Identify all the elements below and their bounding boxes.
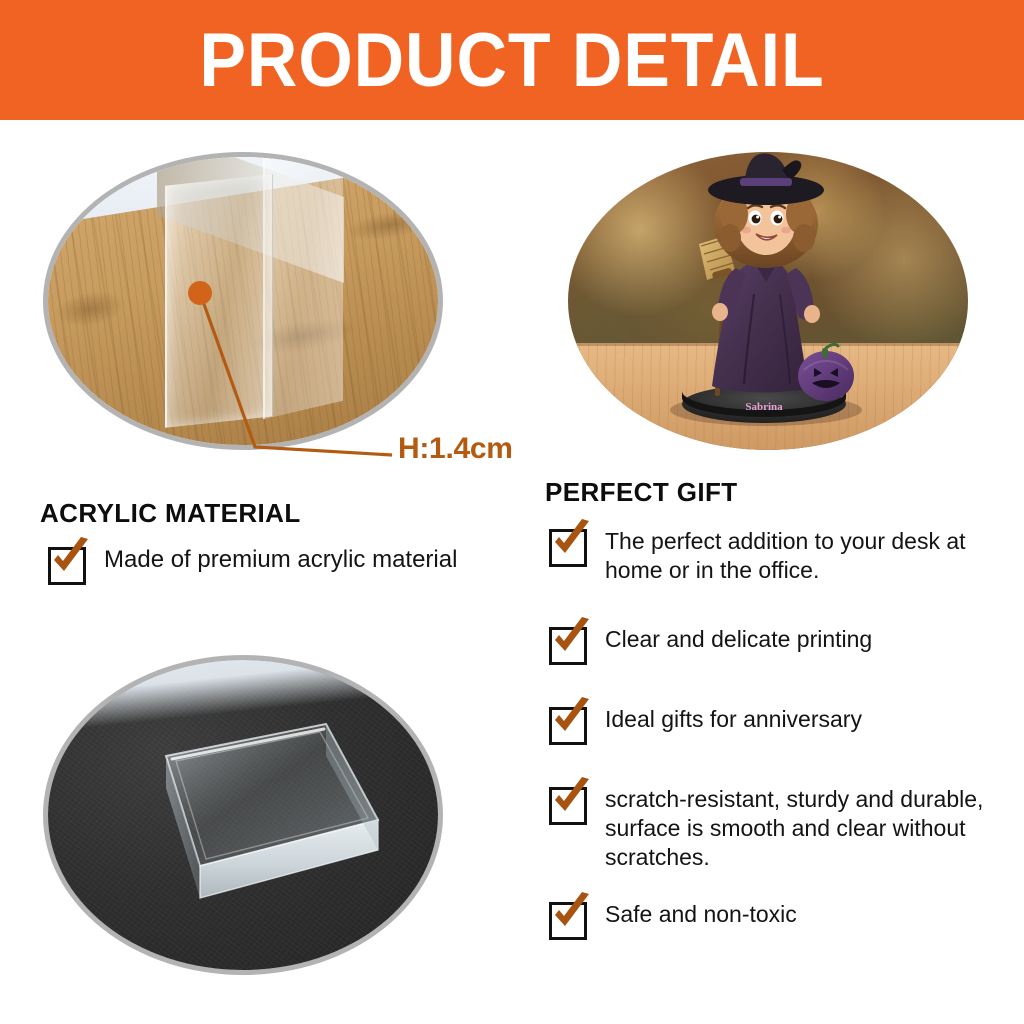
feature-text: scratch-resistant, sturdy and durable, s… [605, 785, 1024, 872]
checkbox-checked-icon [549, 902, 587, 940]
feature-text: The perfect addition to your desk at hom… [605, 527, 1024, 585]
heading-acrylic-material: ACRYLIC MATERIAL [40, 498, 301, 529]
feature-desk-addition: The perfect addition to your desk at hom… [549, 527, 1024, 585]
feature-acrylic-material: Made of premium acrylic material [48, 545, 457, 585]
witch-figurine-illustration: Sabrina [568, 152, 968, 450]
feature-scratch-resistant: scratch-resistant, sturdy and durable, s… [549, 785, 1024, 872]
acrylic-back-face [263, 152, 343, 420]
dimension-label: H:1.4cm [398, 432, 513, 466]
feature-text: Safe and non-toxic [605, 900, 797, 929]
engraved-name: Sabrina [745, 401, 783, 413]
feature-anniversary-gift: Ideal gifts for anniversary [549, 705, 862, 745]
oak-scene-background [48, 157, 438, 445]
acrylic-block-illustration [48, 660, 443, 975]
checkbox-checked-icon [48, 547, 86, 585]
feature-text: Ideal gifts for anniversary [605, 705, 862, 734]
wood-knot [53, 286, 127, 331]
photo-acrylic-block-on-slate [43, 655, 443, 975]
feature-safe-non-toxic: Safe and non-toxic [549, 900, 797, 940]
checkbox-checked-icon [549, 707, 587, 745]
photo-witch-figurine: Sabrina [568, 152, 968, 450]
feature-clear-printing: Clear and delicate printing [549, 625, 872, 665]
header-banner: PRODUCT DETAIL [0, 0, 1024, 120]
checkbox-checked-icon [549, 627, 587, 665]
page-title: PRODUCT DETAIL [41, 0, 983, 120]
photo-acrylic-edge-on-wood [43, 152, 443, 450]
acrylic-front-face [165, 174, 273, 427]
jack-o-lantern [798, 344, 854, 401]
feature-text: Made of premium acrylic material [104, 545, 457, 575]
wood-knot [343, 206, 436, 246]
checkbox-checked-icon [549, 787, 587, 825]
heading-perfect-gift: PERFECT GIFT [545, 477, 738, 508]
feature-text: Clear and delicate printing [605, 625, 872, 654]
checkbox-checked-icon [549, 529, 587, 567]
